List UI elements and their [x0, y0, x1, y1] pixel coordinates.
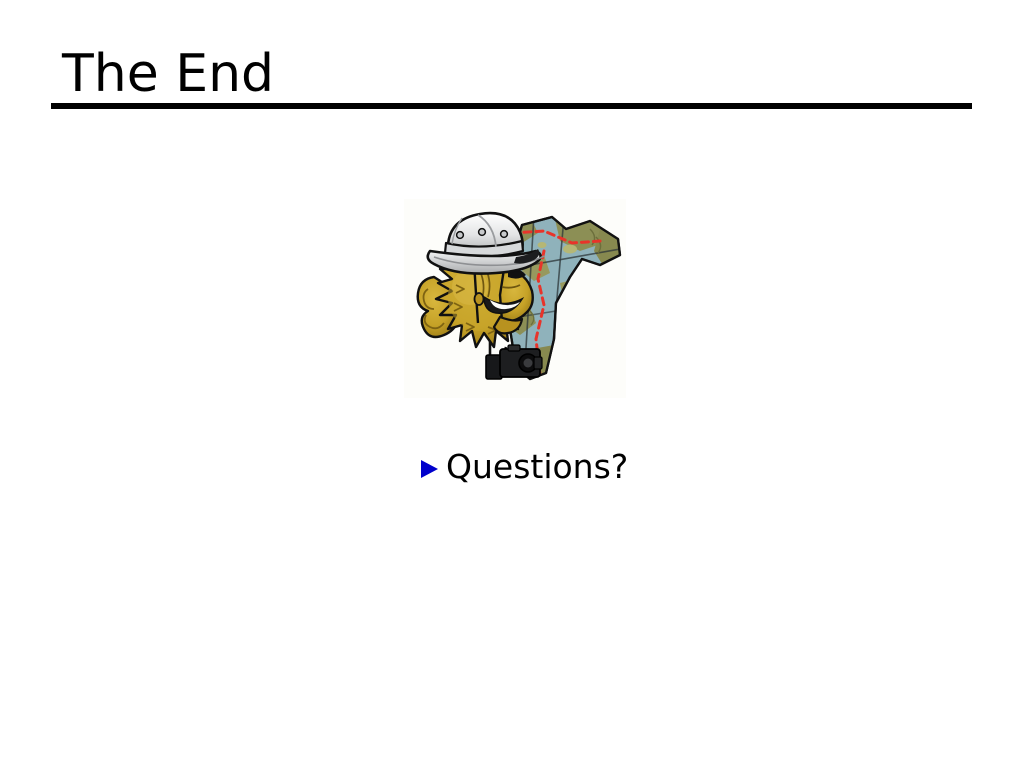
slide-title-block: The End: [51, 46, 972, 102]
slide-root: The End: [0, 0, 1024, 768]
page-title: The End: [51, 46, 972, 102]
list-item: Questions?: [421, 447, 628, 487]
puffy-tourist-mascot-image: [404, 199, 626, 398]
triangle-right-icon: [421, 460, 438, 478]
title-divider: [51, 103, 972, 109]
puffy-tourist-illustration: [404, 199, 626, 398]
bullet-label: Questions?: [446, 447, 628, 487]
